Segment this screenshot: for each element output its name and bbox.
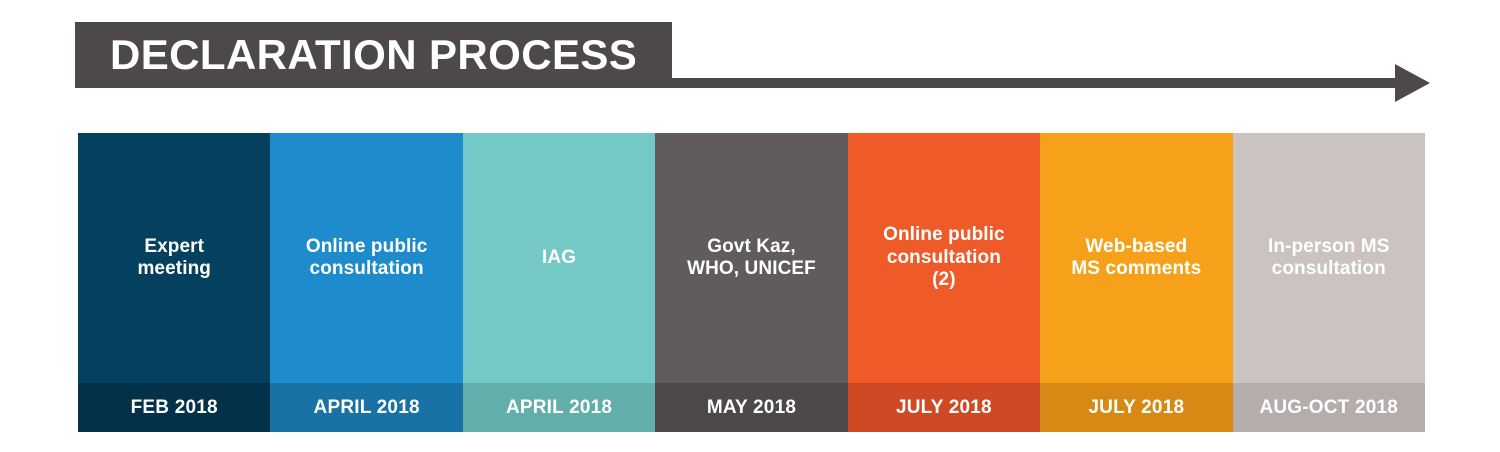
- timeline-phase-column[interactable]: IAGAPRIL 2018: [463, 133, 655, 432]
- phase-date-footer: APRIL 2018: [270, 383, 462, 432]
- phase-date: AUG-OCT 2018: [1259, 398, 1398, 417]
- phase-date: JULY 2018: [896, 398, 992, 417]
- phase-date-footer: APRIL 2018: [463, 383, 655, 432]
- phase-body: Expert meeting: [78, 133, 270, 383]
- phase-body: Online public consultation: [270, 133, 462, 383]
- phase-body: Online public consultation (2): [848, 133, 1040, 383]
- phase-date: FEB 2018: [131, 398, 218, 417]
- phase-date: APRIL 2018: [506, 398, 612, 417]
- phase-body: Govt Kaz, WHO, UNICEF: [655, 133, 847, 383]
- phase-label: In-person MS consultation: [1268, 236, 1390, 281]
- right-arrow-icon: [660, 60, 1430, 106]
- declaration-process-timeline: Expert meetingFEB 2018Online public cons…: [78, 133, 1425, 432]
- phase-date-footer: JULY 2018: [848, 383, 1040, 432]
- timeline-phase-column[interactable]: Expert meetingFEB 2018: [78, 133, 270, 432]
- process-header: DECLARATION PROCESS: [0, 0, 1500, 120]
- phase-label: Expert meeting: [137, 236, 211, 281]
- phase-date: JULY 2018: [1088, 398, 1184, 417]
- phase-body: Web-based MS comments: [1040, 133, 1232, 383]
- title-bar: DECLARATION PROCESS: [75, 22, 672, 88]
- phase-date-footer: AUG-OCT 2018: [1233, 383, 1425, 432]
- phase-label: Web-based MS comments: [1071, 236, 1201, 281]
- phase-label: Online public consultation (2): [883, 224, 1005, 291]
- phase-label: Govt Kaz, WHO, UNICEF: [687, 236, 816, 281]
- phase-date: APRIL 2018: [314, 398, 420, 417]
- timeline-phase-column[interactable]: Online public consultation (2)JULY 2018: [848, 133, 1040, 432]
- timeline-phase-column[interactable]: Web-based MS commentsJULY 2018: [1040, 133, 1232, 432]
- phase-label: Online public consultation: [306, 236, 428, 281]
- phase-date: MAY 2018: [707, 398, 796, 417]
- timeline-phase-column[interactable]: In-person MS consultationAUG-OCT 2018: [1233, 133, 1425, 432]
- timeline-phase-column[interactable]: Online public consultationAPRIL 2018: [270, 133, 462, 432]
- phase-date-footer: JULY 2018: [1040, 383, 1232, 432]
- timeline-phase-column[interactable]: Govt Kaz, WHO, UNICEFMAY 2018: [655, 133, 847, 432]
- phase-body: IAG: [463, 133, 655, 383]
- phase-date-footer: MAY 2018: [655, 383, 847, 432]
- phase-label: IAG: [542, 247, 576, 269]
- phase-date-footer: FEB 2018: [78, 383, 270, 432]
- phase-body: In-person MS consultation: [1233, 133, 1425, 383]
- page-title: DECLARATION PROCESS: [110, 34, 637, 76]
